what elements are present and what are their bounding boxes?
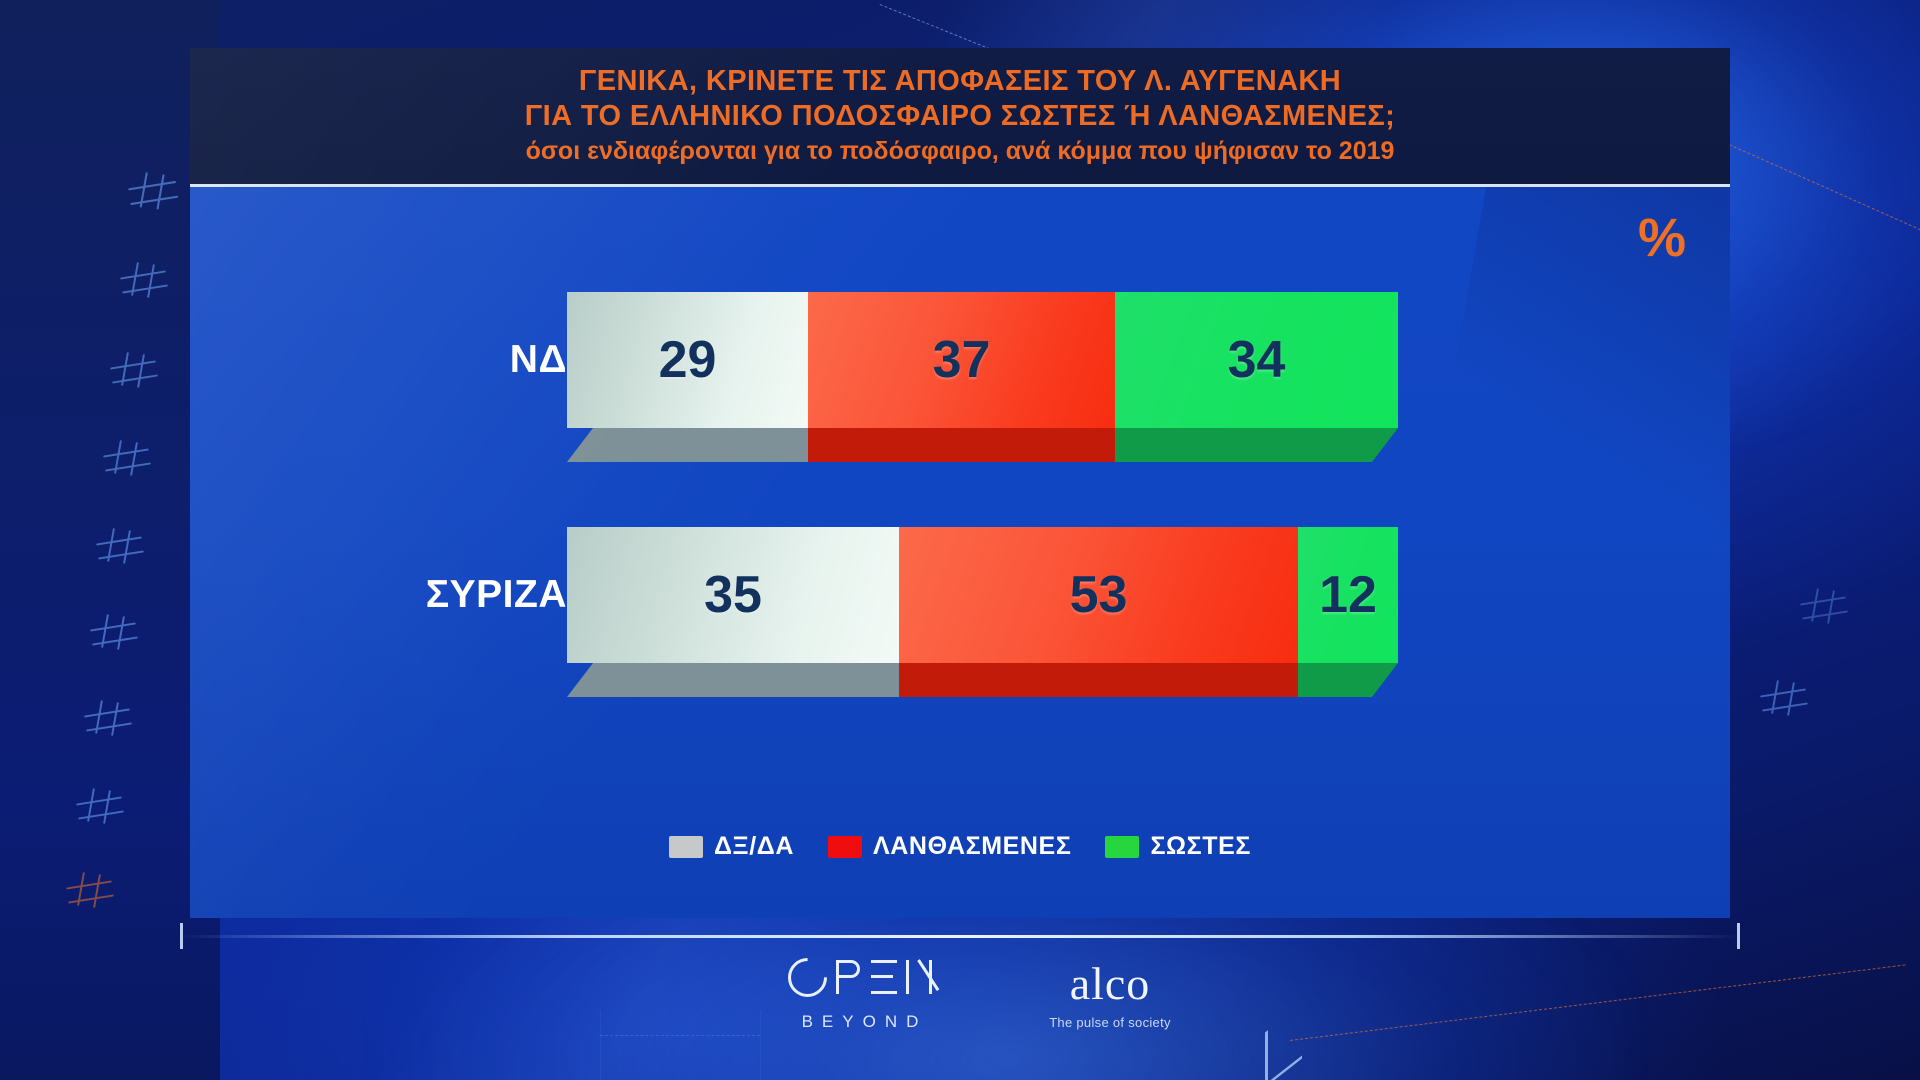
bar-segment-dk[interactable]: 29	[567, 292, 808, 428]
footer-accent-tick-left	[180, 923, 183, 949]
chart-row: ΝΔ 29 37 34	[190, 292, 1730, 462]
legend-swatch-icon	[828, 836, 862, 858]
open-wordmark	[770, 955, 950, 999]
alco-logo: alco The pulse of society	[1010, 959, 1210, 1030]
chart-plot-area: % ΝΔ 29 37 34	[190, 187, 1730, 918]
chart-title-bar: ΓΕΝΙΚΑ, ΚΡΙΝΕΤΕ ΤΙΣ ΑΠΟΦΑΣΕΙΣ ΤΟΥ Λ. ΑΥΓ…	[190, 48, 1730, 187]
alco-tagline: The pulse of society	[1010, 1015, 1210, 1030]
legend-label: ΣΩΣΤΕΣ	[1150, 832, 1251, 861]
bar-value-label: 37	[933, 334, 991, 386]
bar-value-label: 12	[1319, 569, 1377, 621]
bar-value-label: 53	[1070, 569, 1128, 621]
chart-legend: ΔΞ/ΔΑ ΛΑΝΘΑΣΜΕΝΕΣ ΣΩΣΤΕΣ	[190, 832, 1730, 861]
stacked-bar-nd: 29 37 34	[567, 292, 1398, 462]
legend-label: ΛΑΝΘΑΣΜΕΝΕΣ	[873, 832, 1071, 861]
letter-p-icon	[836, 960, 862, 994]
row-label-nd: ΝΔ	[510, 338, 567, 382]
bar-segment-base	[808, 428, 1115, 462]
page-subtitle: όσοι ενδιαφέρονται για το ποδόσφαιρο, αν…	[190, 134, 1730, 168]
letter-o-icon	[780, 949, 835, 1004]
legend-swatch-icon	[669, 836, 703, 858]
footer-logos: BEYOND alco The pulse of society	[0, 955, 1920, 1065]
bar-value-label: 35	[704, 569, 762, 621]
bar-segment-wrong[interactable]: 53	[899, 527, 1298, 663]
letter-n-icon	[906, 960, 932, 994]
bar-segment-base	[1115, 428, 1398, 462]
footer-accent-line	[180, 935, 1740, 938]
bar-segment-wrong[interactable]: 37	[808, 292, 1115, 428]
bar-segment-dk[interactable]: 35	[567, 527, 899, 663]
unit-symbol: %	[1638, 211, 1686, 265]
legend-swatch-icon	[1105, 836, 1139, 858]
bar-segment-base	[567, 428, 808, 462]
row-label-syriza: ΣΥΡΙΖΑ	[426, 573, 567, 617]
bar-segment-base	[1298, 663, 1398, 697]
bar-segment-right[interactable]: 12	[1298, 527, 1398, 663]
bar-segment-right[interactable]: 34	[1115, 292, 1398, 428]
bar-value-label: 34	[1228, 334, 1286, 386]
page-title-line2: ΓΙΑ ΤΟ ΕΛΛΗΝΙΚΟ ΠΟΔΟΣΦΑΙΡΟ ΣΩΣΤΕΣ Ή ΛΑΝΘ…	[190, 99, 1730, 134]
bar-segment-base	[567, 663, 899, 697]
legend-item-right[interactable]: ΣΩΣΤΕΣ	[1105, 832, 1251, 861]
letter-e-icon	[871, 960, 897, 994]
alco-wordmark: alco	[1010, 959, 1210, 1009]
chart-row: ΣΥΡΙΖΑ 35 53 12	[190, 527, 1730, 697]
bar-value-label: 29	[659, 334, 717, 386]
legend-item-wrong[interactable]: ΛΑΝΘΑΣΜΕΝΕΣ	[828, 832, 1071, 861]
screen: ΓΕΝΙΚΑ, ΚΡΙΝΕΤΕ ΤΙΣ ΑΠΟΦΑΣΕΙΣ ΤΟΥ Λ. ΑΥΓ…	[0, 0, 1920, 1080]
stacked-bar-syriza: 35 53 12	[567, 527, 1398, 697]
open-beyond-subtext: BEYOND	[770, 1012, 950, 1032]
page-title-line1: ΓΕΝΙΚΑ, ΚΡΙΝΕΤΕ ΤΙΣ ΑΠΟΦΑΣΕΙΣ ΤΟΥ Λ. ΑΥΓ…	[190, 64, 1730, 99]
chart-panel: ΓΕΝΙΚΑ, ΚΡΙΝΕΤΕ ΤΙΣ ΑΠΟΦΑΣΕΙΣ ΤΟΥ Λ. ΑΥΓ…	[190, 48, 1730, 918]
legend-item-dk[interactable]: ΔΞ/ΔΑ	[669, 832, 794, 861]
open-beyond-logo: BEYOND	[770, 955, 950, 1032]
footer-accent-tick-right	[1737, 923, 1740, 949]
bar-segment-base	[899, 663, 1298, 697]
legend-label: ΔΞ/ΔΑ	[714, 832, 794, 861]
